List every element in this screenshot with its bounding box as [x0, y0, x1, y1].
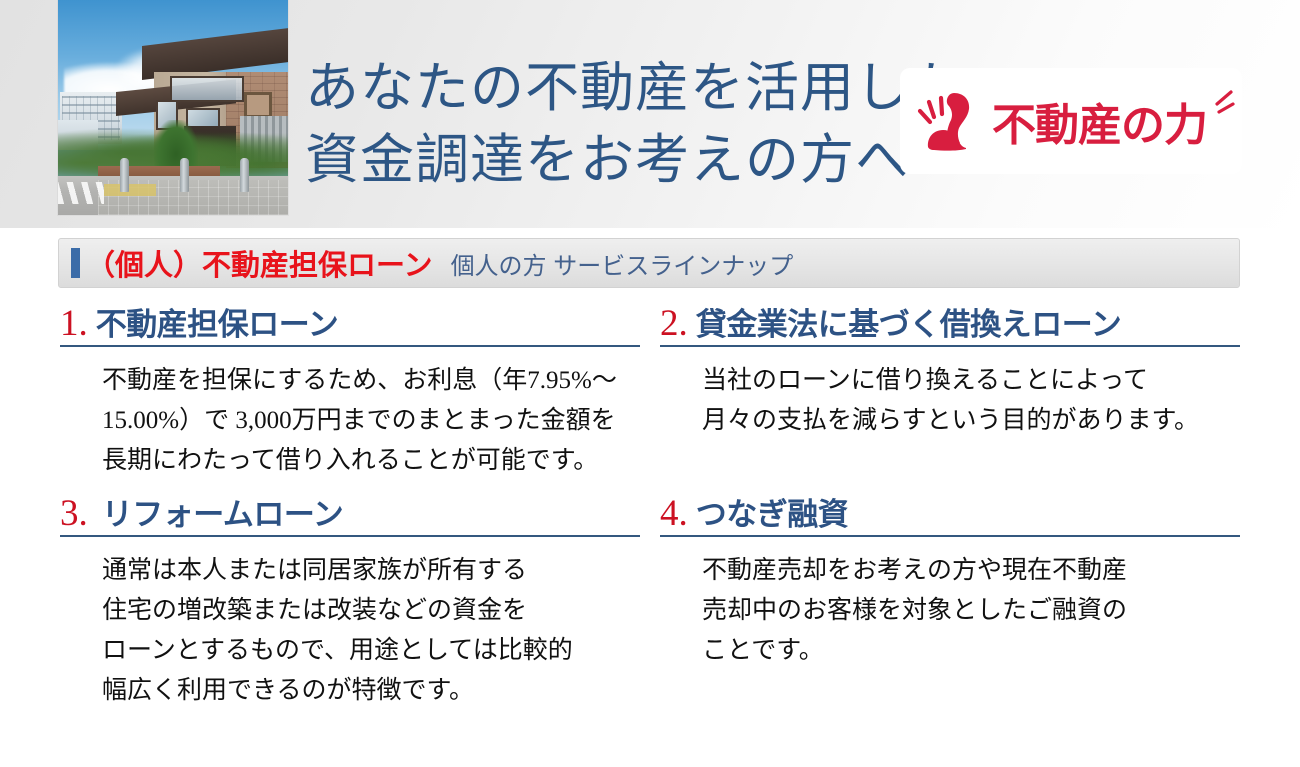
- page-root: あなたの不動産を活用した 資金調達をお考えの方へ 不動産の力 （個人）不動産担保…: [0, 0, 1300, 767]
- service-item-4: 4. つなぎ融資 不動産売却をお考えの方や現在不動産 売却中のお客様を対象とした…: [660, 495, 1250, 671]
- photo-house-balcony: [170, 76, 244, 102]
- hero-banner: あなたの不動産を活用した 資金調達をお考えの方へ 不動産の力: [0, 0, 1300, 228]
- service-item-3: 3. リフォームローン 通常は本人または同居家族が所有する 住宅の増改築または改…: [60, 495, 650, 711]
- service-item-4-body: 不動産売却をお考えの方や現在不動産 売却中のお客様を対象としたご融資の ことです…: [702, 551, 1250, 671]
- service-item-4-heading: 4. つなぎ融資: [660, 495, 1240, 537]
- photo-house-wall-panel: [244, 92, 272, 118]
- section-header-bar: （個人）不動産担保ローン 個人の方 サービスラインナップ: [58, 238, 1240, 288]
- photo-tactile-paving: [104, 184, 156, 196]
- spark-lines-icon: [1209, 88, 1235, 128]
- service-item-3-heading: 3. リフォームローン: [60, 495, 640, 537]
- service-item-3-title: リフォームローン: [102, 499, 344, 532]
- service-item-4-number: 4.: [660, 495, 688, 532]
- service-item-1: 1. 不動産担保ローン 不動産を担保にするため、お利息（年7.95%～ 15.0…: [60, 305, 650, 481]
- service-item-2-number: 2.: [660, 305, 688, 342]
- service-item-2: 2. 貸金業法に基づく借換えローン 当社のローンに借り換えることによって 月々の…: [660, 305, 1250, 441]
- flexing-arm-icon: [914, 89, 990, 153]
- service-item-1-body: 不動産を担保にするため、お利息（年7.95%～ 15.00%）で 3,000万円…: [102, 361, 650, 481]
- brand-logo-text: 不動産の力: [992, 89, 1207, 153]
- photo-bollard: [240, 158, 249, 192]
- photo-crosswalk: [58, 182, 104, 204]
- section-subtitle: 個人の方 サービスラインナップ: [451, 246, 794, 281]
- service-item-3-body: 通常は本人または同居家族が所有する 住宅の増改築または改装などの資金を ローンと…: [102, 551, 650, 711]
- service-item-1-title: 不動産担保ローン: [96, 309, 338, 342]
- section-accent-bar: [71, 248, 80, 278]
- photo-bollard: [180, 158, 189, 192]
- service-item-3-number: 3.: [60, 495, 88, 532]
- hero-photo: [58, 0, 288, 215]
- hero-headline: あなたの不動産を活用した 資金調達をお考えの方へ: [305, 52, 965, 196]
- service-item-2-heading: 2. 貸金業法に基づく借換えローン: [660, 305, 1240, 347]
- service-item-2-title: 貸金業法に基づく借換えローン: [696, 309, 1121, 342]
- service-item-1-number: 1.: [60, 305, 88, 342]
- service-item-1-heading: 1. 不動産担保ローン: [60, 305, 640, 347]
- service-item-4-title: つなぎ融資: [696, 499, 849, 532]
- section-title: （個人）不動産担保ローン: [86, 242, 433, 284]
- brand-logo: 不動産の力: [900, 68, 1242, 174]
- service-item-2-body: 当社のローンに借り換えることによって 月々の支払を減らすという目的があります。: [702, 361, 1250, 441]
- photo-bollard: [120, 158, 129, 192]
